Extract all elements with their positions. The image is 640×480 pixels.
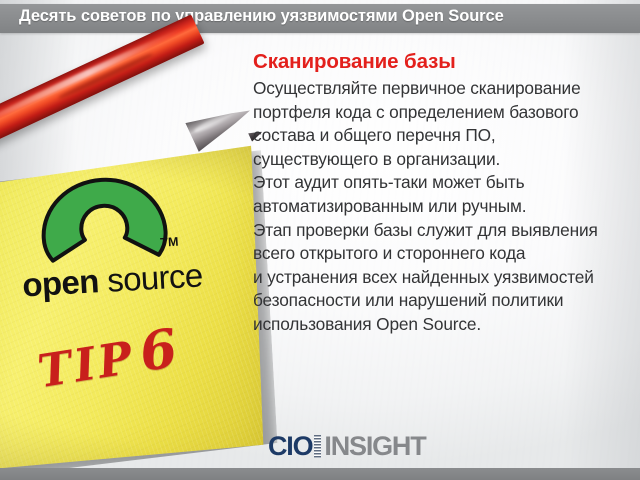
open-source-logo: TM open source — [23, 171, 216, 311]
open-source-trademark: TM — [160, 235, 179, 250]
content-line: автоматизированным или ручным. — [253, 195, 637, 219]
content-line: Этот аудит опять-таки может быть — [253, 171, 637, 195]
content-line: всего открытого и стороннего кода — [253, 242, 637, 266]
content-line: существующего в организации. — [253, 148, 637, 172]
slide-canvas: Десять советов по управлению уязвимостям… — [0, 0, 640, 480]
content-line: безопасности или нарушений политики — [253, 289, 637, 313]
content-block: Сканирование базы Осуществляйте первично… — [253, 50, 637, 337]
content-line: использования Open Source. — [253, 313, 637, 337]
cio-insight-logo: CIO INSIGHT — [268, 432, 426, 460]
logo-insight-text: INSIGHT — [324, 433, 425, 460]
footer-band — [0, 468, 640, 480]
logo-divider — [314, 435, 321, 458]
open-source-word-open: open — [21, 262, 99, 303]
open-source-keyhole-icon — [36, 173, 170, 264]
content-line: Этап проверки базы служит для выявления — [253, 219, 637, 243]
content-line: состава и общего перечня ПО, — [253, 124, 637, 148]
content-line: Осуществляйте первичное сканирование — [253, 77, 637, 101]
pen-cone — [185, 95, 257, 152]
content-body: Осуществляйте первичное сканирование пор… — [253, 77, 637, 337]
content-line: портфеля кода с определением базового — [253, 101, 637, 125]
tip-label: TIP — [34, 331, 138, 399]
logo-cio-text: CIO — [268, 433, 312, 460]
tip-number: 6 — [135, 317, 181, 384]
content-line: и устранения всех найденных уязвимостей — [253, 266, 637, 290]
pen-barrel — [0, 14, 205, 152]
content-heading: Сканирование базы — [253, 50, 637, 74]
open-source-word-source: source — [106, 256, 203, 298]
